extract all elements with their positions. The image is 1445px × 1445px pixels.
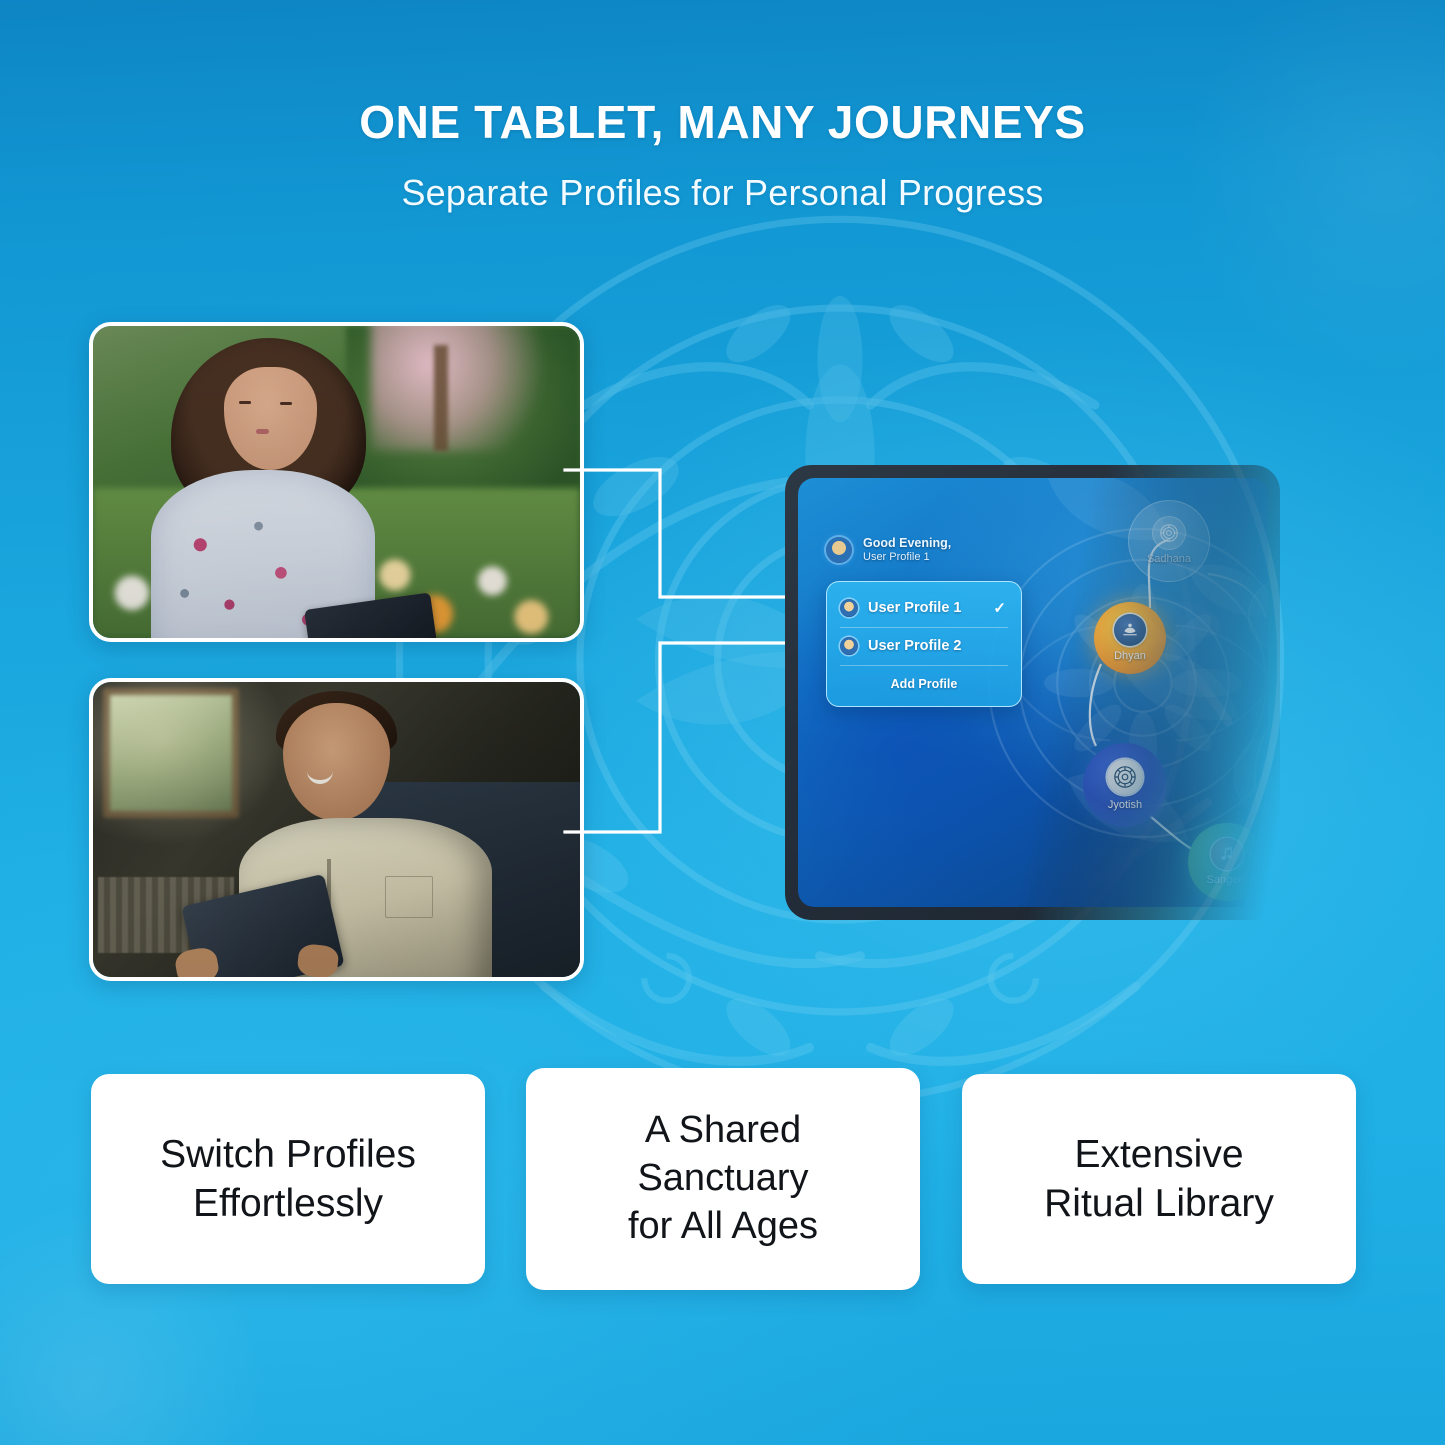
- card-line-2: Ritual Library: [1044, 1182, 1274, 1225]
- open-book-icon: [1263, 755, 1268, 785]
- tablet-screen: Good Evening, User Profile 1 User Profil…: [798, 478, 1268, 907]
- feature-card-switch-profiles[interactable]: Switch Profiles Effortlessly: [91, 1074, 485, 1284]
- node-label: Svadhyay: [1256, 789, 1268, 800]
- page-title: ONE TABLET, MANY JOURNEYS: [0, 95, 1445, 149]
- card-line-1: Extensive: [1074, 1133, 1243, 1176]
- lotus-meditation-icon: [1114, 614, 1146, 646]
- photo-woman-in-garden: [89, 322, 584, 642]
- card-line-3: for All Ages: [628, 1205, 818, 1247]
- promo-graphic: ONE TABLET, MANY JOURNEYS Separate Profi…: [0, 0, 1445, 1445]
- node-dhyan[interactable]: Dhyan: [1094, 602, 1166, 674]
- node-sadhana[interactable]: Sadhana: [1128, 500, 1210, 582]
- tablet-device: Good Evening, User Profile 1 User Profil…: [785, 465, 1280, 920]
- node-label: Jyotish: [1108, 799, 1142, 811]
- node-label: Dhyan: [1114, 650, 1146, 662]
- node-label: Sadhana: [1147, 553, 1191, 565]
- yantra-mandala-icon: [1153, 517, 1185, 549]
- zodiac-wheel-icon: [1107, 759, 1143, 795]
- music-note-icon: [1211, 838, 1243, 870]
- photo-man-with-tablet: [89, 678, 584, 981]
- feature-card-ritual-library[interactable]: Extensive Ritual Library: [962, 1074, 1356, 1284]
- card-line-2: Effortlessly: [193, 1182, 383, 1225]
- page-subtitle: Separate Profiles for Personal Progress: [0, 172, 1445, 214]
- card-line-2: Sanctuary: [637, 1157, 808, 1199]
- node-sangeet[interactable]: Sangeet: [1188, 823, 1266, 901]
- feature-card-shared-sanctuary[interactable]: A Shared Sanctuary for All Ages: [526, 1068, 920, 1290]
- node-jyotish[interactable]: Jyotish: [1083, 743, 1167, 827]
- card-line-1: Switch Profiles: [160, 1133, 416, 1176]
- card-line-1: A Shared: [645, 1109, 801, 1151]
- node-label: Sangeet: [1207, 874, 1248, 886]
